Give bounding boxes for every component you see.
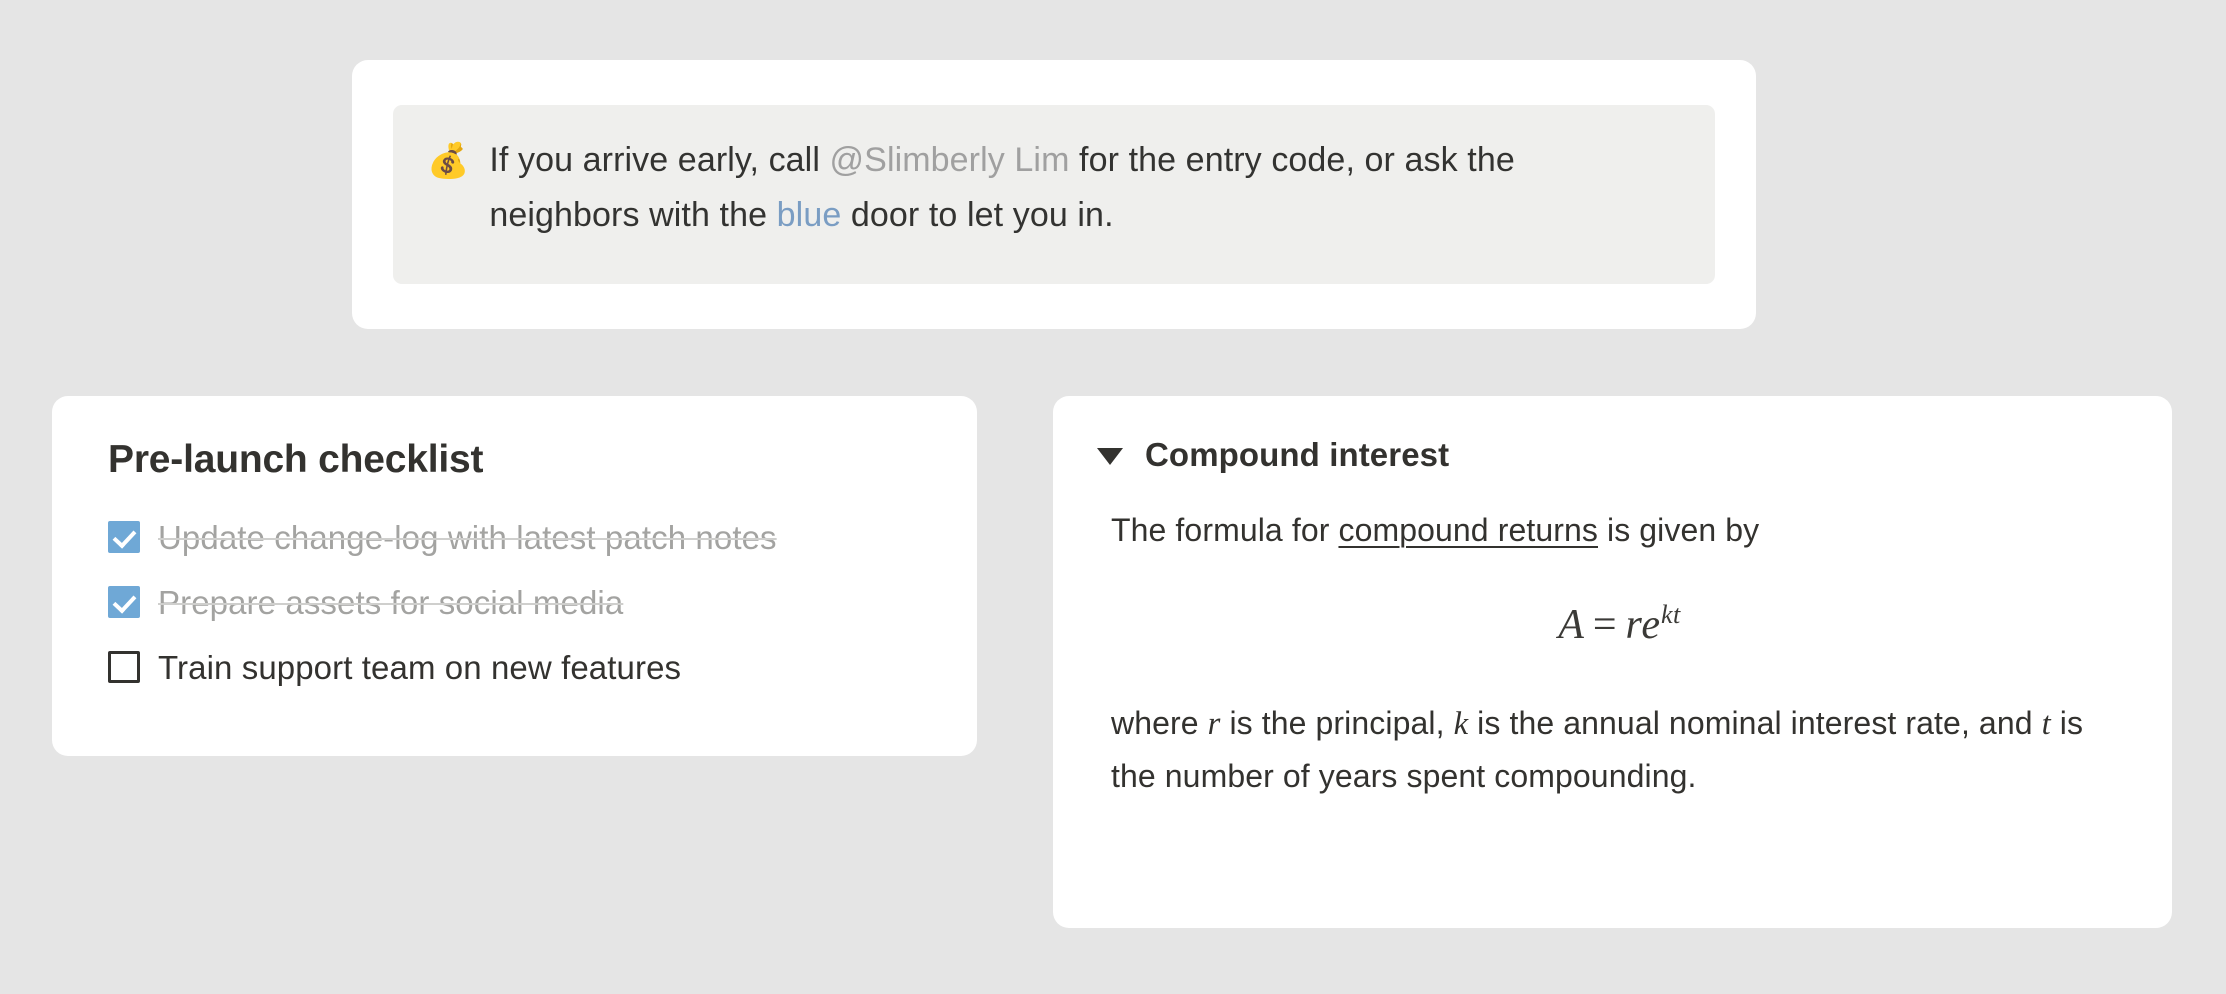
checklist-item[interactable]: Train support team on new features [108, 642, 921, 692]
formula-intro: The formula for compound returns is give… [1111, 504, 2128, 556]
equation-display: A=rekt [1111, 556, 2128, 697]
checkbox-checked-icon[interactable] [108, 521, 140, 553]
callout-text-tail: door to let you in. [841, 196, 1113, 234]
equation-rhs-exponent: kt [1661, 600, 1681, 629]
user-mention[interactable]: @Slimberly Lim [830, 141, 1070, 179]
checkbox-unchecked-icon[interactable] [108, 651, 140, 683]
definition-text-1: where [1111, 705, 1208, 741]
equation-relation: = [1593, 602, 1618, 648]
checklist-item-label: Train support team on new features [158, 651, 681, 684]
checkbox-checked-icon[interactable] [108, 586, 140, 618]
callout-card: 💰 If you arrive early, call @Slimberly L… [352, 60, 1756, 329]
formula-definitions: where r is the principal, k is the annua… [1111, 697, 2128, 802]
checklist-item[interactable]: Prepare assets for social media [108, 577, 921, 627]
variable-t: t [2042, 706, 2051, 742]
compound-returns-link[interactable]: compound returns [1338, 512, 1598, 548]
checklist-item[interactable]: Update change-log with latest patch note… [108, 512, 921, 562]
definition-text-2: is the principal, [1220, 705, 1453, 741]
blue-link[interactable]: blue [777, 196, 842, 234]
disclosure-header[interactable]: Compound interest [1097, 436, 2128, 474]
callout-text: If you arrive early, call @Slimberly Lim… [489, 133, 1619, 243]
chevron-down-icon[interactable] [1097, 448, 1123, 465]
checklist-card: Pre-launch checklist Update change-log w… [52, 396, 977, 756]
intro-after-link: is given by [1598, 512, 1759, 548]
callout-message-box: 💰 If you arrive early, call @Slimberly L… [393, 105, 1715, 284]
checklist-item-label: Prepare assets for social media [158, 586, 623, 619]
equation-rhs-base: re [1626, 602, 1661, 648]
checklist-title: Pre-launch checklist [108, 438, 921, 482]
variable-k: k [1454, 706, 1469, 742]
equation-lhs: A [1558, 602, 1585, 648]
definition-text-3: is the annual nominal interest rate, and [1468, 705, 2041, 741]
checklist-item-label: Update change-log with latest patch note… [158, 521, 777, 554]
intro-before-link: The formula for [1111, 512, 1338, 548]
money-bag-icon: 💰 [427, 133, 469, 189]
section-title: Compound interest [1145, 436, 1449, 474]
variable-r: r [1208, 706, 1221, 742]
callout-text-lead: If you arrive early, call [489, 141, 829, 179]
formula-body: The formula for compound returns is give… [1097, 504, 2128, 802]
compound-interest-card: Compound interest The formula for compou… [1053, 396, 2172, 928]
